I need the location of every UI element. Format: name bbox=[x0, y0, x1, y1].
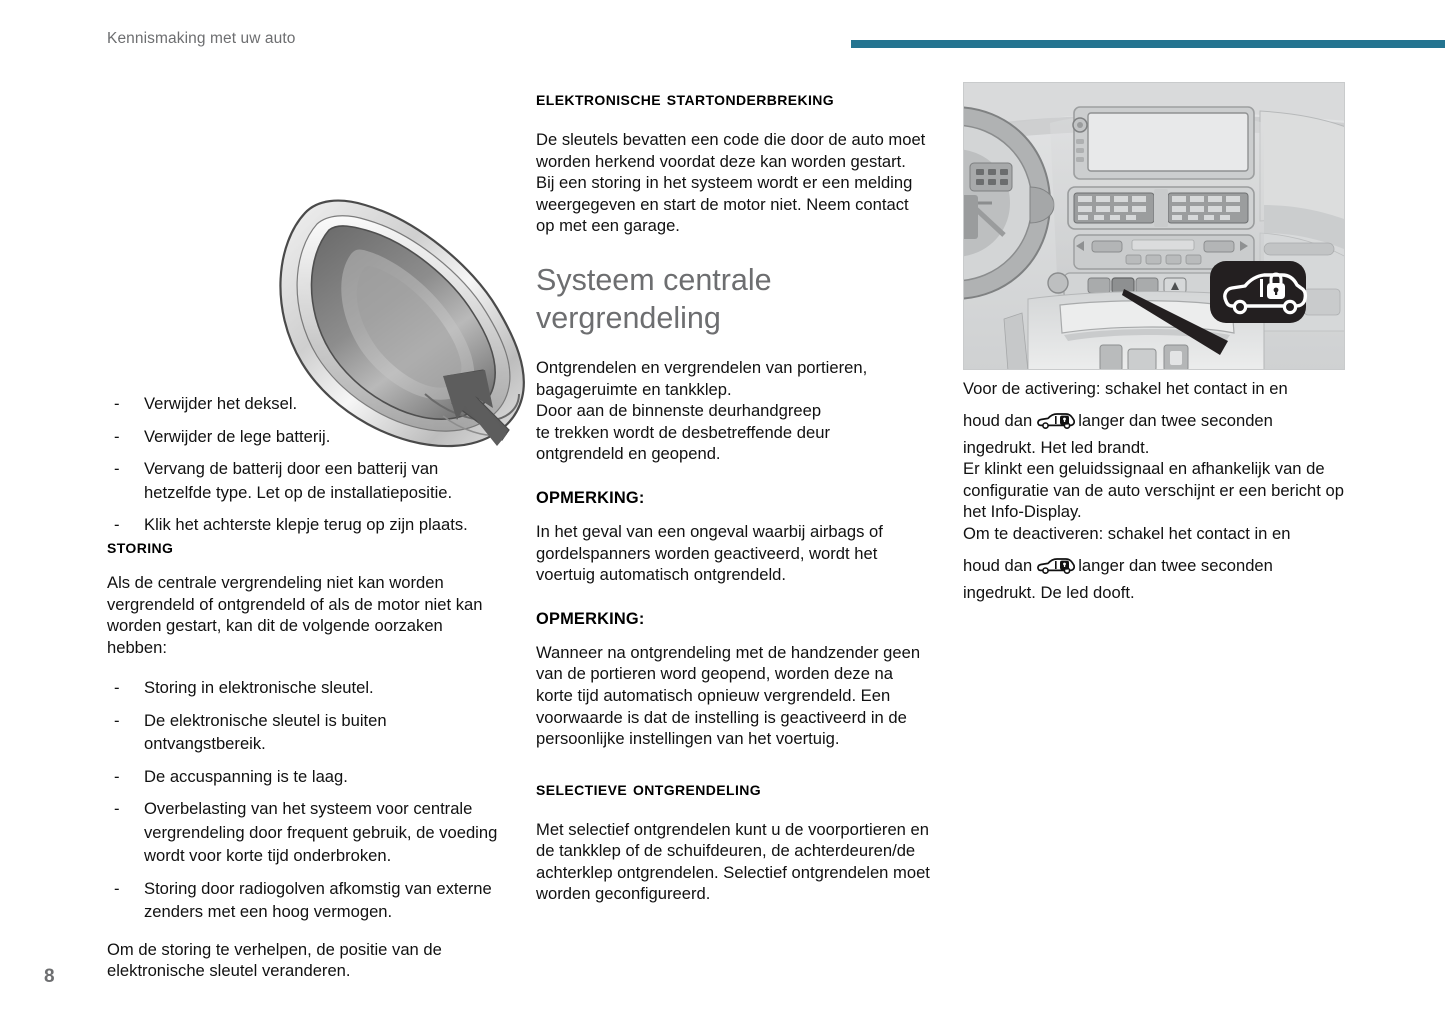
dash-bullet: - bbox=[114, 765, 120, 789]
car-lock-icon bbox=[1035, 409, 1075, 430]
list-item: -Storing in elektronische sleutel. bbox=[107, 676, 507, 700]
activation-line-4: Er klinkt een geluidssignaal en afhankel… bbox=[963, 458, 1363, 523]
dash-bullet: - bbox=[114, 457, 120, 481]
immobiliser-paragraph-2: Bij een storing in het systeem wordt er … bbox=[536, 172, 930, 237]
list-item-text: Verwijder de lege batterij. bbox=[144, 427, 330, 446]
list-item-text: Storing in elektronische sleutel. bbox=[144, 678, 374, 697]
storing-section: Storing Als de centrale vergrendeling ni… bbox=[107, 532, 507, 982]
storing-causes-list: -Storing in elektronische sleutel. -De e… bbox=[107, 676, 507, 924]
list-item-text: De accuspanning is te laag. bbox=[144, 767, 348, 786]
central-locking-paragraph-2: Door aan de binnenste deurhandgreep bbox=[536, 400, 930, 422]
activation-line-1: Voor de activering: schakel het contact … bbox=[963, 378, 1363, 400]
central-locking-paragraph-1: Ontgrendelen en vergrendelen van portier… bbox=[536, 357, 930, 400]
selective-unlocking-text: Met selectief ontgrendelen kunt u de voo… bbox=[536, 819, 930, 905]
dashboard-central-locking-button-illustration bbox=[964, 83, 1345, 370]
car-lock-icon bbox=[1035, 554, 1075, 575]
list-item-text: Vervang de batterij door een batterij va… bbox=[144, 459, 452, 502]
battery-steps-list: -Verwijder het deksel. -Verwijder de leg… bbox=[107, 392, 507, 537]
dash-bullet: - bbox=[114, 392, 120, 416]
list-item: -De elektronische sleutel is buiten ontv… bbox=[107, 709, 507, 756]
header-title: Kennismaking met uw auto bbox=[107, 30, 296, 48]
activation-line-2-suffix: langer dan twee seconden bbox=[1078, 411, 1273, 430]
header-accent-rule bbox=[851, 40, 1445, 48]
note-text-2: Wanneer na ontgrendeling met de handzend… bbox=[536, 642, 930, 750]
storing-outro-paragraph: Om de storing te verhelpen, de positie v… bbox=[107, 939, 507, 982]
deactivation-line-2: houd danlanger dan twee seconden bbox=[963, 549, 1363, 582]
activation-line-2-prefix: houd dan bbox=[963, 411, 1032, 430]
deactivation-line-2-suffix: langer dan twee seconden bbox=[1078, 556, 1273, 575]
note-label-2: OPMERKING: bbox=[536, 608, 930, 630]
list-item: -Storing door radiogolven afkomstig van … bbox=[107, 877, 507, 924]
list-item: -Verwijder het deksel. bbox=[107, 392, 507, 416]
list-item: -Overbelasting van het systeem voor cent… bbox=[107, 797, 507, 868]
note-label-1: OPMERKING: bbox=[536, 487, 930, 509]
dash-bullet: - bbox=[114, 709, 120, 733]
list-item: -Verwijder de lege batterij. bbox=[107, 425, 507, 449]
list-item-text: Overbelasting van het systeem voor centr… bbox=[144, 799, 497, 865]
immobiliser-heading: Elektronische startonderbreking bbox=[536, 84, 930, 115]
deactivation-line-1: Om te deactiveren: schakel het contact i… bbox=[963, 523, 1363, 545]
page-header: Kennismaking met uw auto bbox=[0, 30, 1445, 60]
list-item-text: De elektronische sleutel is buiten ontva… bbox=[144, 711, 387, 754]
immobiliser-paragraph-1: De sleutels bevatten een code die door d… bbox=[536, 129, 930, 172]
page-number: 8 bbox=[44, 966, 55, 988]
car-lock-callout-badge bbox=[1210, 261, 1306, 323]
dash-bullet: - bbox=[114, 797, 120, 821]
activation-line-3: ingedrukt. Het led brandt. bbox=[963, 437, 1363, 459]
list-item: -De accuspanning is te laag. bbox=[107, 765, 507, 789]
activation-instructions: Voor de activering: schakel het contact … bbox=[963, 378, 1363, 603]
dash-bullet: - bbox=[114, 676, 120, 700]
storing-intro-paragraph: Als de centrale vergrendeling niet kan w… bbox=[107, 572, 507, 658]
middle-column: Elektronische startonderbreking De sleut… bbox=[536, 80, 930, 905]
central-locking-paragraph-3: te trekken wordt de desbetreffende deur bbox=[536, 422, 930, 444]
dash-bullet: - bbox=[114, 877, 120, 901]
activation-line-2: houd danlanger dan twee seconden bbox=[963, 404, 1363, 437]
chapter-title: Systeem centrale vergrendeling bbox=[536, 261, 930, 337]
central-locking-paragraph-4: ontgrendeld en geopend. bbox=[536, 443, 930, 465]
note-text-1: In het geval van een ongeval waarbij air… bbox=[536, 521, 930, 586]
dash-bullet: - bbox=[114, 425, 120, 449]
deactivation-line-2-prefix: houd dan bbox=[963, 556, 1032, 575]
selective-unlocking-heading: Selectieve ontgrendeling bbox=[536, 774, 930, 805]
list-item: -Vervang de batterij door een batterij v… bbox=[107, 457, 507, 504]
storing-heading: Storing bbox=[107, 532, 507, 563]
list-item-text: Verwijder het deksel. bbox=[144, 394, 297, 413]
deactivation-line-3: ingedrukt. De led dooft. bbox=[963, 582, 1363, 604]
list-item-text: Storing door radiogolven afkomstig van e… bbox=[144, 879, 492, 922]
dashboard-figure bbox=[963, 82, 1345, 370]
